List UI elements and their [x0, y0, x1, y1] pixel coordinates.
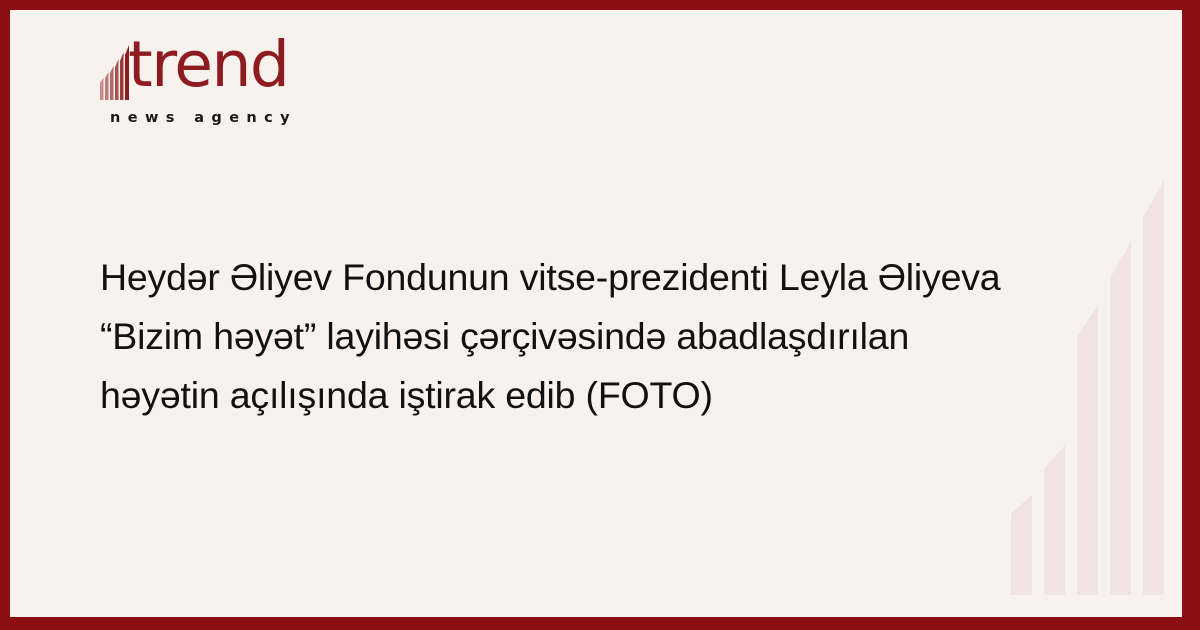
watermark-bar	[1110, 242, 1131, 595]
social-card: trend news agency Heydər Əliyev Fondunun…	[0, 0, 1200, 630]
watermark-bar	[1011, 495, 1032, 595]
logo-tagline: news agency	[110, 110, 297, 126]
card-canvas: trend news agency Heydər Əliyev Fondunun…	[10, 10, 1182, 617]
brand-logo[interactable]: trend news agency	[100, 42, 400, 138]
logo-wordmark: trend	[128, 33, 288, 96]
watermark-bar	[1044, 445, 1065, 595]
page-title: Heydər Əliyev Fondunun vitse-prezidenti …	[100, 248, 1100, 425]
watermark-bar	[1143, 180, 1164, 595]
